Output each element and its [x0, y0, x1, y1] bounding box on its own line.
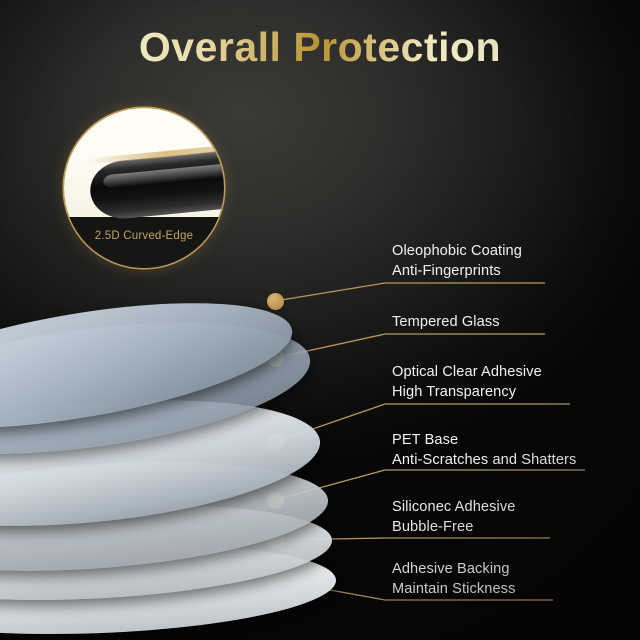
callout-label-line2: Anti-Fingerprints — [392, 261, 522, 281]
curved-edge-inset: 2.5D Curved-Edge — [64, 108, 224, 268]
callout-label-line2: Maintain Stickness — [392, 579, 515, 599]
callout-label-line1: Adhesive Backing — [392, 561, 510, 577]
callout-label-line2: Anti-Scratches and Shatters — [392, 450, 576, 470]
callout-label-line1: Oleophobic Coating — [392, 243, 522, 259]
callout-label-adhesive-backing: Adhesive BackingMaintain Stickness — [392, 559, 515, 599]
leader-line-tempered-glass — [275, 334, 545, 358]
callout-dot-oleophobic-coating[interactable] — [267, 293, 284, 310]
inset-backdrop-dark — [64, 217, 224, 268]
callout-label-oleophobic-coating: Oleophobic CoatingAnti-Fingerprints — [392, 241, 522, 281]
inset-caption: 2.5D Curved-Edge — [64, 230, 224, 242]
callout-label-line1: PET Base — [392, 432, 458, 448]
callout-label-pet-base: PET BaseAnti-Scratches and Shatters — [392, 430, 576, 470]
callout-label-line1: Siliconec Adhesive — [392, 499, 516, 515]
callout-label-line2: Bubble-Free — [392, 517, 516, 537]
leader-line-oleophobic-coating — [275, 283, 545, 301]
page-title: Overall Protection — [0, 24, 640, 71]
callout-label-line1: Optical Clear Adhesive — [392, 364, 542, 380]
callout-label-siliconec-adhesive: Siliconec AdhesiveBubble-Free — [392, 497, 516, 537]
callout-label-tempered-glass: Tempered Glass — [392, 312, 500, 332]
infographic-canvas: Oleophobic CoatingAnti-FingerprintsTempe… — [0, 0, 640, 640]
callout-label-line2: High Transparency — [392, 382, 542, 402]
callout-label-line1: Tempered Glass — [392, 314, 500, 330]
callout-label-optical-clear-adhesive: Optical Clear AdhesiveHigh Transparency — [392, 362, 542, 402]
